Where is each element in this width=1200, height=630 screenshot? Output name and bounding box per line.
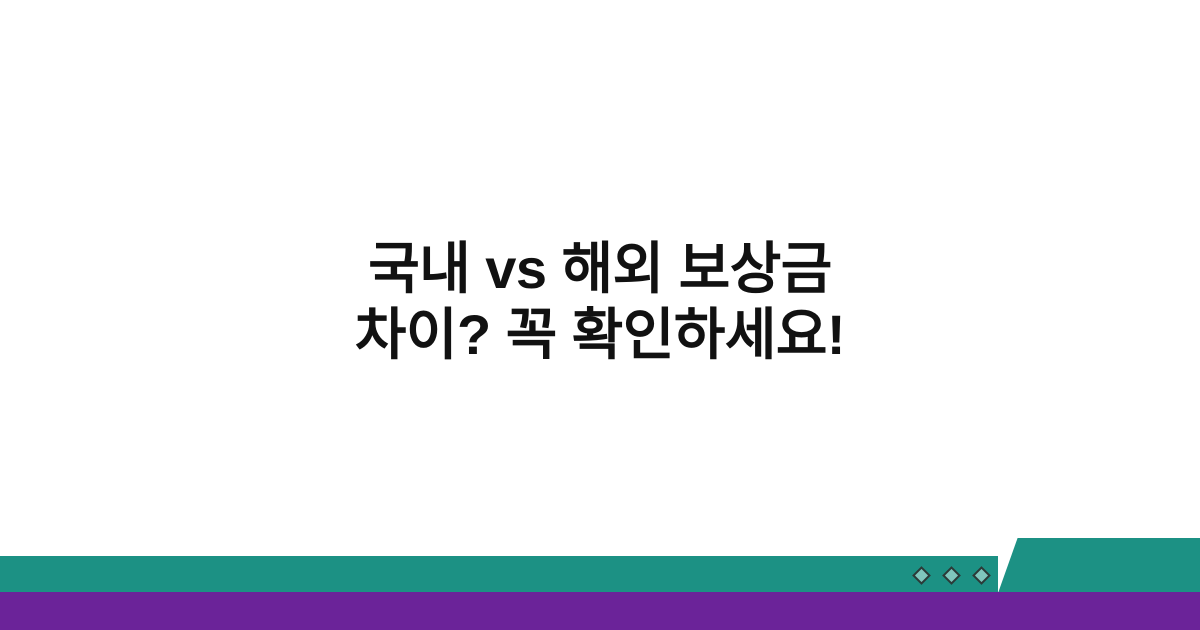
- diamond-icon: [912, 566, 931, 585]
- teal-band-right: [1018, 538, 1200, 592]
- title-line-1: 국내 vs 해외 보상금: [0, 236, 1200, 302]
- bottom-banner: [0, 530, 1200, 630]
- thumbnail-canvas: 국내 vs 해외 보상금 차이? 꼭 확인하세요!: [0, 0, 1200, 630]
- diamond-icon: [942, 566, 961, 585]
- diamond-decoration-group: [912, 565, 1004, 585]
- teal-band-left: [0, 556, 998, 592]
- page-title: 국내 vs 해외 보상금 차이? 꼭 확인하세요!: [0, 236, 1200, 368]
- title-line-2: 차이? 꼭 확인하세요!: [0, 302, 1200, 368]
- diamond-icon: [972, 566, 991, 585]
- purple-band: [0, 592, 1200, 630]
